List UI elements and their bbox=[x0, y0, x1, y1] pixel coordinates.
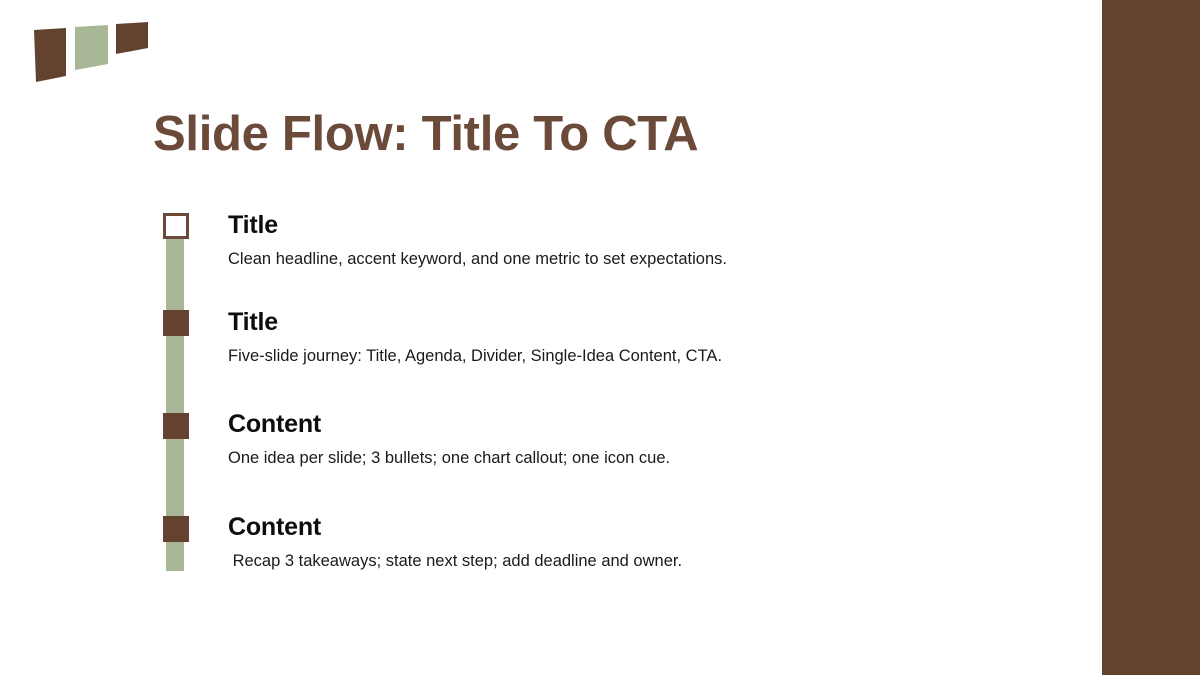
page-title: Slide Flow: Title To CTA bbox=[153, 106, 698, 162]
timeline-rail bbox=[163, 213, 189, 571]
list-item[interactable]: Content One idea per slide; 3 bullets; o… bbox=[228, 409, 928, 469]
step-title: Content bbox=[228, 512, 928, 542]
right-accent-panel bbox=[1102, 0, 1200, 675]
slide-canvas: Slide Flow: Title To CTA Title Clean hea… bbox=[0, 0, 1200, 675]
step-title: Title bbox=[228, 307, 928, 337]
step-title: Title bbox=[228, 210, 928, 240]
step-description: Clean headline, accent keyword, and one … bbox=[228, 248, 928, 270]
brand-logo bbox=[28, 18, 158, 88]
logo-shape-sage-middle-icon bbox=[75, 25, 108, 70]
list-item[interactable]: Title Five-slide journey: Title, Agenda,… bbox=[228, 307, 928, 367]
step-description: Recap 3 takeaways; state next step; add … bbox=[228, 550, 928, 572]
timeline-marker-1[interactable] bbox=[163, 213, 189, 239]
timeline-marker-2[interactable] bbox=[163, 310, 189, 336]
step-title: Content bbox=[228, 409, 928, 439]
list-item[interactable]: Title Clean headline, accent keyword, an… bbox=[228, 210, 928, 270]
timeline-marker-4[interactable] bbox=[163, 516, 189, 542]
step-description: Five-slide journey: Title, Agenda, Divid… bbox=[228, 345, 928, 367]
timeline-marker-3[interactable] bbox=[163, 413, 189, 439]
logo-shape-brown-left-icon bbox=[34, 28, 66, 82]
step-description: One idea per slide; 3 bullets; one chart… bbox=[228, 447, 928, 469]
logo-shape-brown-right-icon bbox=[116, 22, 148, 54]
list-item[interactable]: Content Recap 3 takeaways; state next st… bbox=[228, 512, 928, 572]
